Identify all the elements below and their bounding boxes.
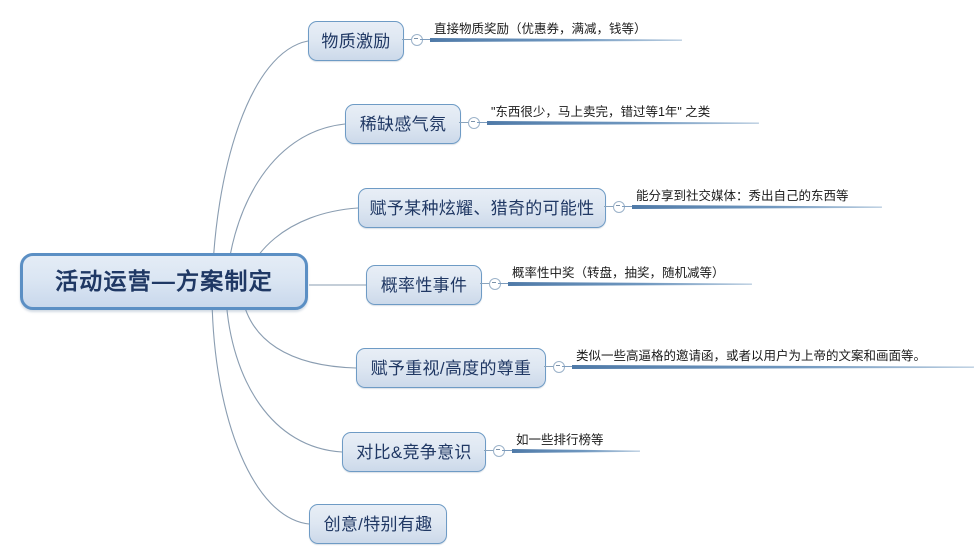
note-5-text: 类似一些高逼格的邀请函，或者以用户为上帝的文案和画面等。 <box>576 350 926 363</box>
branch-node-7[interactable]: 创意/特别有趣 <box>309 504 447 544</box>
note-4-bar <box>508 282 752 286</box>
branch-node-6-label: 对比&竞争意识 <box>356 444 471 461</box>
note-1-bar <box>430 38 682 42</box>
connector-to-branch-6 <box>226 298 342 452</box>
note-5-bar <box>572 365 974 369</box>
note-3-text: 能分享到社交媒体：秀出自己的东西等 <box>636 190 849 203</box>
branch-node-7-label: 创意/特别有趣 <box>324 516 433 533</box>
note-6-text: 如一些排行榜等 <box>516 434 604 447</box>
branch-node-3-label: 赋予某种炫耀、猎奇的可能性 <box>370 200 595 217</box>
note-6: 如一些排行榜等 <box>494 427 640 453</box>
note-2-text: "东西很少，马上卖完，错过等1年" 之类 <box>491 106 710 119</box>
note-1-text: 直接物质奖励（优惠券，满减，钱等） <box>434 23 647 36</box>
note-5: 类似一些高逼格的邀请函，或者以用户为上帝的文案和画面等。 <box>554 343 974 369</box>
note-2-bar <box>487 121 759 125</box>
note-3-bar <box>632 205 882 209</box>
branch-node-1[interactable]: 物质激励 <box>308 21 404 61</box>
branch-node-4-label: 概率性事件 <box>381 277 468 294</box>
branch-node-3[interactable]: 赋予某种炫耀、猎奇的可能性 <box>358 188 606 228</box>
note-1: 直接物质奖励（优惠券，满减，钱等） <box>412 16 682 42</box>
branch-node-1-label: 物质激励 <box>321 33 390 50</box>
branch-node-2[interactable]: 稀缺感气氛 <box>345 104 461 144</box>
branch-node-4[interactable]: 概率性事件 <box>366 265 482 305</box>
note-2: "东西很少，马上卖完，错过等1年" 之类 <box>469 99 759 125</box>
root-node[interactable]: 活动运营—方案制定 <box>20 253 308 310</box>
mindmap-canvas: 活动运营—方案制定 物质激励 直接物质奖励（优惠券，满减，钱等） 稀缺感气氛 "… <box>0 0 980 560</box>
note-3: 能分享到社交媒体：秀出自己的东西等 <box>614 183 882 209</box>
note-4-text: 概率性中奖（转盘，抽奖，随机减等） <box>512 267 725 280</box>
note-4: 概率性中奖（转盘，抽奖，随机减等） <box>490 260 752 286</box>
branch-node-2-label: 稀缺感气氛 <box>360 116 447 133</box>
branch-node-5-label: 赋予重视/高度的尊重 <box>371 360 532 377</box>
branch-node-5[interactable]: 赋予重视/高度的尊重 <box>356 348 546 388</box>
branch-node-6[interactable]: 对比&竞争意识 <box>342 432 486 472</box>
connector-to-branch-7 <box>212 299 309 524</box>
root-node-label: 活动运营—方案制定 <box>55 270 273 293</box>
note-6-bar <box>512 449 640 453</box>
